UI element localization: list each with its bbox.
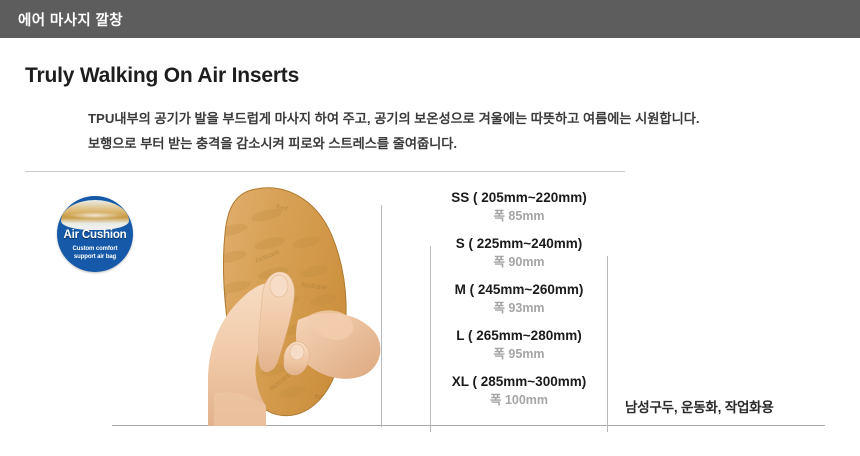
size-width: 폭 93mm	[430, 299, 608, 318]
size-row-ss: SS ( 205mm~220mm) 폭 85mm	[430, 188, 608, 226]
header-title: 에어 마사지 깔창	[18, 9, 123, 30]
thumb-nail	[290, 344, 304, 360]
size-width: 폭 95mm	[430, 345, 608, 364]
size-name: M ( 245mm~260mm)	[430, 280, 608, 299]
svg-text:foot: foot	[315, 394, 328, 401]
badge-sub-line-1: Custom comfort	[57, 245, 133, 253]
fingernail	[270, 275, 288, 297]
product-description: TPU내부의 공기가 발을 부드럽게 마사지 하여 주고, 공기의 보온성으로 …	[88, 106, 848, 156]
size-width: 폭 85mm	[430, 207, 608, 226]
size-width: 폭 100mm	[430, 391, 608, 410]
description-line-2: 보행으로 부터 받는 충격을 감소시켜 피로와 스트레스를 줄여줍니다.	[88, 131, 848, 156]
badge-sub-label: Custom comfort support air bag	[57, 245, 133, 261]
badge-insole-thumbnail-icon	[61, 200, 129, 230]
size-name: S ( 225mm~240mm)	[430, 234, 608, 253]
header-bar: 에어 마사지 깔창	[0, 0, 860, 38]
size-name: XL ( 285mm~300mm)	[430, 372, 608, 391]
size-name: L ( 265mm~280mm)	[430, 326, 608, 345]
size-chart: SS ( 205mm~220mm) 폭 85mm S ( 225mm~240mm…	[430, 188, 608, 418]
size-row-xl: XL ( 285mm~300mm) 폭 100mm	[430, 372, 608, 410]
size-row-l: L ( 265mm~280mm) 폭 95mm	[430, 326, 608, 364]
usage-note: 남성구두, 운동화, 작업화용	[625, 396, 774, 416]
description-line-1: TPU내부의 공기가 발을 부드럽게 마사지 하여 주고, 공기의 보온성으로 …	[88, 106, 848, 131]
air-cushion-badge: Air Cushion Custom comfort support air b…	[57, 196, 133, 272]
size-name: SS ( 205mm~220mm)	[430, 188, 608, 207]
size-row-s: S ( 225mm~240mm) 폭 90mm	[430, 234, 608, 272]
top-divider	[25, 171, 625, 172]
size-row-m: M ( 245mm~260mm) 폭 93mm	[430, 280, 608, 318]
badge-main-label: Air Cushion	[57, 229, 133, 241]
product-photo: foot foot footcare foot footcare foot fo…	[180, 180, 385, 426]
badge-sub-line-2: support air bag	[57, 253, 133, 261]
page-title: Truly Walking On Air Inserts	[25, 64, 299, 88]
size-width: 폭 90mm	[430, 253, 608, 272]
hands-holding-insole-illustration: foot foot footcare foot footcare foot fo…	[180, 180, 385, 426]
